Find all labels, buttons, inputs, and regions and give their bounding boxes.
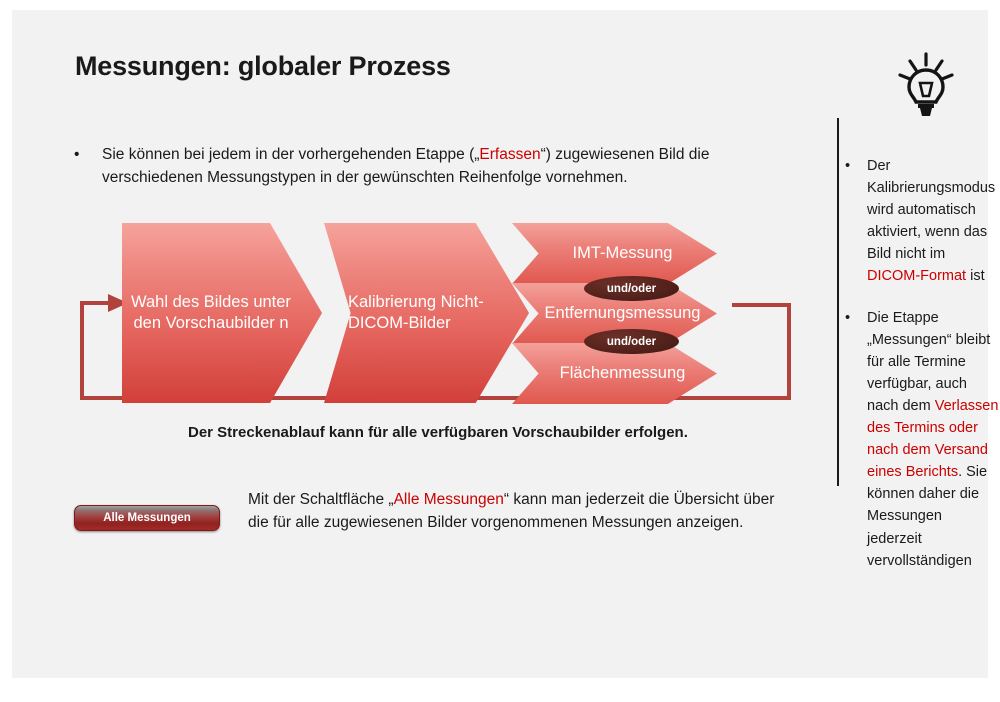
process-step-1: Wahl des Bildes unter den Vorschaubilder… — [122, 223, 322, 403]
slide-canvas: Messungen: globaler Prozess • Sie können… — [12, 10, 988, 678]
sidebar-notes: • Der Kalibrierungsmodus wird automatisc… — [845, 155, 1000, 592]
sidebar-note-1-highlight: DICOM-Format — [867, 268, 966, 284]
process-branch-imt-label: IMT-Messung — [573, 244, 673, 263]
alle-messungen-button[interactable]: Alle Messungen — [74, 505, 220, 531]
process-step-2: Kalibrierung Nicht-DICOM-Bilder — [324, 223, 529, 403]
sidebar-note-1-text: Der Kalibrierungsmodus wird automatisch … — [867, 155, 1000, 287]
bullet-marker: • — [845, 307, 850, 329]
button-description: Mit der Schaltfläche „Alle Messungen“ ka… — [248, 489, 793, 535]
process-step-1-label: Wahl des Bildes unter den Vorschaubilder… — [122, 292, 300, 334]
main-bullet-highlight: Erfassen — [479, 146, 540, 163]
process-step-2-label: Kalibrierung Nicht-DICOM-Bilder — [348, 292, 507, 334]
process-diagram: Wahl des Bildes unter den Vorschaubilder… — [72, 215, 802, 420]
process-branch-imt: IMT-Messung — [512, 223, 717, 284]
alle-messungen-button-label: Alle Messungen — [103, 512, 191, 524]
page-title: Messungen: globaler Prozess — [75, 51, 451, 82]
connector-badge-1: und/oder — [584, 276, 679, 301]
process-branch-distance-label: Entfernungsmessung — [545, 304, 701, 323]
process-branch-area-label: Flächenmessung — [560, 364, 686, 383]
main-bullet-part1: Sie können bei jedem in der vorhergehend… — [102, 146, 479, 163]
main-bullet-text: Sie können bei jedem in der vorhergehend… — [102, 144, 789, 190]
main-bullet: • Sie können bei jedem in der vorhergehe… — [74, 144, 789, 190]
sidebar-divider — [837, 118, 839, 486]
sidebar-note-1-part2: ist — [966, 268, 985, 284]
sidebar-note-1: • Der Kalibrierungsmodus wird automatisc… — [845, 155, 1000, 287]
sidebar-note-2-text: Die Etappe „Messungen“ bleibt für alle T… — [867, 307, 1000, 571]
bullet-marker: • — [845, 155, 850, 177]
sidebar-note-1-part1: Der Kalibrierungsmodus wird automatisch … — [867, 158, 995, 262]
connector-badge-2: und/oder — [584, 329, 679, 354]
button-description-highlight: Alle Messungen — [394, 491, 504, 508]
bullet-marker: • — [74, 144, 79, 167]
lightbulb-icon — [896, 50, 956, 118]
process-branch-group: IMT-Messung Entfernungsmessung Flächenme… — [512, 223, 727, 403]
sidebar-note-2: • Die Etappe „Messungen“ bleibt für alle… — [845, 307, 1000, 571]
button-description-part1: Mit der Schaltfläche „ — [248, 491, 394, 508]
diagram-caption: Der Streckenablauf kann für alle verfügb… — [188, 422, 708, 445]
